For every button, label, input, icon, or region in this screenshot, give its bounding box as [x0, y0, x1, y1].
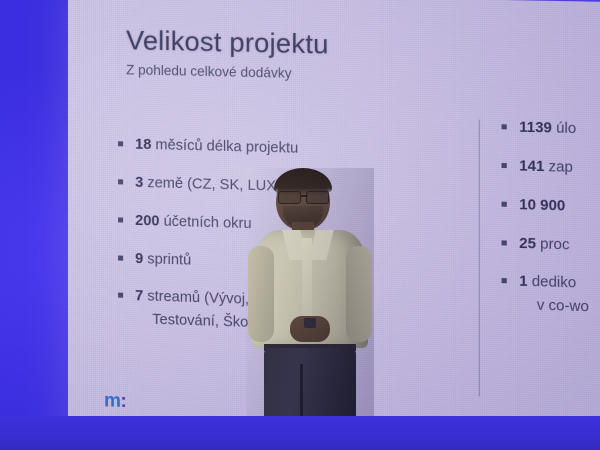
bullet-value: 200 [135, 213, 159, 230]
bullet-square-icon [502, 163, 507, 168]
speaker-right-arm [346, 246, 372, 342]
slide-title: Velikost projektu [126, 25, 329, 60]
speaker-left-arm [248, 246, 274, 342]
bullet-value: 1 [519, 274, 527, 291]
bullet-text: dediko [528, 274, 577, 292]
bullet-square-icon [502, 124, 507, 129]
glasses-left-lens [278, 191, 301, 204]
list-item: 1139 úlo [502, 118, 589, 139]
bullet-text: úlo [552, 120, 576, 137]
bullet-value: 25 [519, 235, 536, 252]
speaker [246, 168, 374, 450]
bullet-text: sprintů [143, 251, 191, 268]
bullet-value: 18 [135, 137, 151, 153]
list-item: 18 měsíců délka projektu [118, 135, 339, 159]
right-bullet-list: 1139 úlo 141 zap 10 900 25 proc 1 dediko [502, 118, 589, 337]
bullet-square-icon [502, 240, 507, 245]
slide-subtitle: Z pohledu celkové dodávky [126, 62, 291, 81]
bullet-text: proc [536, 236, 570, 253]
bullet-text: měsíců délka projektu [151, 137, 298, 157]
bullet-value: 9 [135, 250, 143, 266]
bullet-value: 3 [135, 175, 143, 191]
glasses-right-lens [306, 191, 329, 204]
bullet-continuation: v co-wo [519, 296, 589, 317]
bullet-square-icon [118, 255, 123, 260]
list-item: 1 dediko v co-wo [502, 272, 589, 317]
bullet-square-icon [502, 278, 507, 283]
logo-colon: : [120, 391, 126, 412]
bullet-value: 7 [135, 288, 143, 304]
list-item: 10 900 [502, 195, 589, 217]
bullet-square-icon [118, 141, 123, 146]
bullet-value: 141 [519, 158, 544, 175]
list-item: 25 proc [502, 234, 589, 256]
bullet-square-icon [118, 217, 123, 222]
logo-letter: m [104, 390, 120, 412]
bullet-square-icon [118, 179, 123, 184]
bullet-square-icon [502, 201, 507, 206]
presentation-photo: Velikost projektu Z pohledu celkové dodá… [0, 0, 600, 450]
list-item: 141 zap [502, 157, 589, 178]
company-logo: m: [104, 390, 126, 413]
bullet-text: zap [544, 159, 573, 176]
stage-floor [0, 416, 600, 450]
bullet-text: účetních okru [159, 213, 251, 232]
column-divider [479, 120, 480, 397]
bullet-value: 10 900 [519, 197, 565, 215]
presenter-clicker [304, 318, 316, 328]
bullet-square-icon [118, 293, 123, 298]
bullet-value: 1139 [519, 120, 552, 137]
glasses-icon [276, 191, 331, 202]
